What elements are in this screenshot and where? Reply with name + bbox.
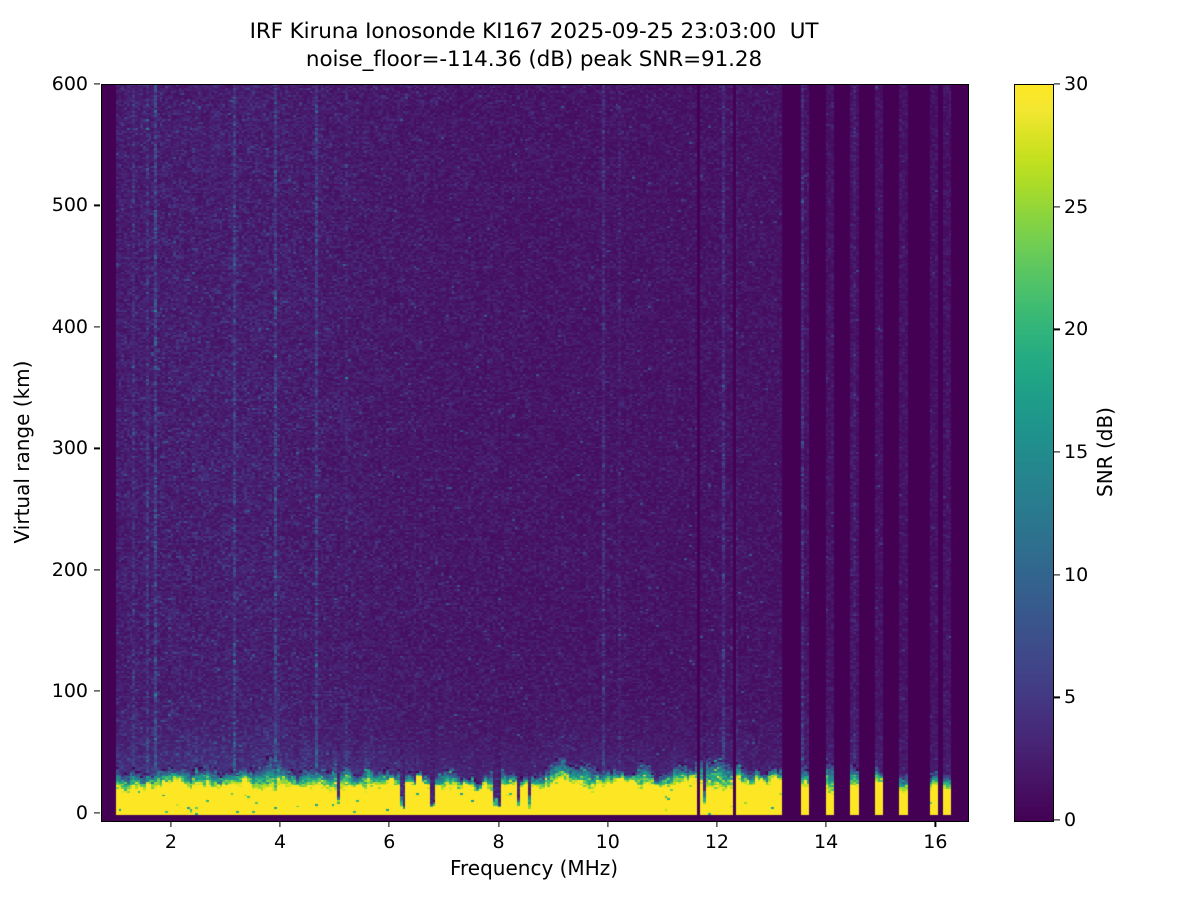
colorbar-tick-label: 20 [1064, 318, 1088, 340]
y-axis-label: Virtual range (km) [9, 84, 35, 820]
ionogram-plot-area[interactable] [101, 84, 969, 822]
colorbar-tick-label: 5 [1064, 686, 1076, 708]
colorbar-tick-mark [1054, 819, 1060, 820]
colorbar-tick-label: 10 [1064, 564, 1088, 586]
figure-title: IRF Kiruna Ionosonde KI167 2025-09-25 23… [101, 18, 967, 75]
colorbar-gradient-canvas [1015, 85, 1053, 821]
colorbar-tick-mark [1054, 697, 1060, 698]
y-tick-label: 0 [76, 802, 88, 824]
colorbar-tick-mark [1054, 83, 1060, 84]
x-tick-mark [170, 821, 171, 827]
x-tick-mark [498, 821, 499, 827]
y-tick-label: 400 [52, 316, 88, 338]
y-tick-label: 300 [52, 437, 88, 459]
title-line-2: noise_floor=-114.36 (dB) peak SNR=91.28 [101, 46, 967, 74]
x-tick-label: 12 [705, 831, 729, 853]
colorbar-tick-mark [1054, 451, 1060, 452]
y-tick-mark [94, 326, 100, 327]
colorbar[interactable] [1014, 84, 1054, 822]
x-tick-mark [607, 821, 608, 827]
y-tick-mark [94, 691, 100, 692]
x-tick-label: 2 [165, 831, 177, 853]
x-tick-mark [716, 821, 717, 827]
y-tick-label: 500 [52, 194, 88, 216]
colorbar-tick-label: 30 [1064, 73, 1088, 95]
y-tick-mark [94, 83, 100, 84]
x-tick-label: 16 [923, 831, 947, 853]
y-axis-label-text: Virtual range (km) [10, 361, 34, 544]
colorbar-tick-label: 0 [1064, 809, 1076, 831]
x-tick-mark [280, 821, 281, 827]
colorbar-label: SNR (dB) [1092, 84, 1118, 820]
x-tick-label: 8 [492, 831, 504, 853]
y-tick-mark [94, 448, 100, 449]
x-tick-label: 14 [814, 831, 838, 853]
colorbar-tick-mark [1054, 574, 1060, 575]
x-tick-mark [826, 821, 827, 827]
title-line-1: IRF Kiruna Ionosonde KI167 2025-09-25 23… [101, 18, 967, 46]
y-tick-label: 200 [52, 559, 88, 581]
y-tick-mark [94, 812, 100, 813]
colorbar-tick-mark [1054, 329, 1060, 330]
x-tick-label: 4 [274, 831, 286, 853]
x-tick-label: 6 [383, 831, 395, 853]
y-tick-label: 600 [52, 73, 88, 95]
x-axis-label: Frequency (MHz) [101, 856, 967, 880]
x-tick-mark [935, 821, 936, 827]
x-tick-label: 10 [596, 831, 620, 853]
colorbar-label-text: SNR (dB) [1093, 407, 1117, 497]
colorbar-tick-mark [1054, 206, 1060, 207]
colorbar-tick-label: 25 [1064, 196, 1088, 218]
x-tick-mark [389, 821, 390, 827]
ionogram-heatmap-canvas [102, 85, 968, 821]
y-tick-mark [94, 205, 100, 206]
colorbar-tick-label: 15 [1064, 441, 1088, 463]
y-tick-mark [94, 569, 100, 570]
ionogram-figure: IRF Kiruna Ionosonde KI167 2025-09-25 23… [0, 0, 1200, 900]
y-tick-label: 100 [52, 680, 88, 702]
